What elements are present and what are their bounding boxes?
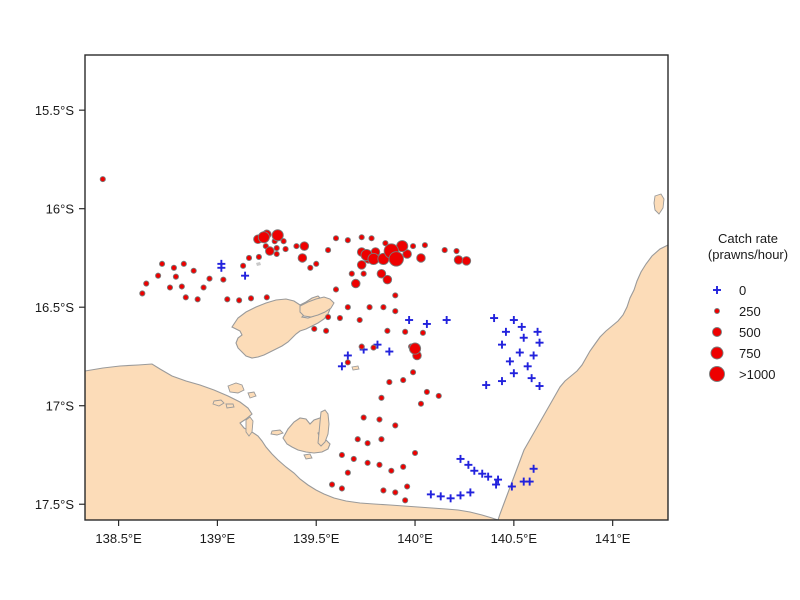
marker-catch-250 <box>351 456 356 461</box>
marker-catch-250 <box>355 437 360 442</box>
marker-catch-250 <box>248 296 253 301</box>
marker-catch-250 <box>359 344 364 349</box>
marker-catch-250 <box>201 285 206 290</box>
legend-label: 750 <box>739 346 761 361</box>
marker-catch-250 <box>393 423 398 428</box>
legend-symbol-750 <box>711 347 723 359</box>
marker-catch-250 <box>345 238 350 243</box>
marker-catch-250 <box>379 437 384 442</box>
marker-catch-250 <box>393 293 398 298</box>
legend-title-line2: (prawns/hour) <box>708 247 788 262</box>
marker-catch-250 <box>389 468 394 473</box>
marker-catch-250 <box>237 298 242 303</box>
x-tick-label: 138.5°E <box>95 531 142 546</box>
legend-label: 250 <box>739 304 761 319</box>
marker-catch-250 <box>381 305 386 310</box>
marker-catch-250 <box>100 177 105 182</box>
map-figure: 138.5°E139°E139.5°E140°E140.5°E141°E 15.… <box>0 0 800 600</box>
marker-catch-250 <box>144 281 149 286</box>
marker-catch-750 <box>409 343 420 354</box>
map-panel <box>85 55 668 520</box>
x-tick-label: 140.5°E <box>491 531 538 546</box>
marker-catch-250 <box>312 326 317 331</box>
marker-catch-250 <box>371 345 376 350</box>
marker-catch-250 <box>325 247 330 252</box>
marker-catch-250 <box>454 248 459 253</box>
marker-catch-250 <box>345 360 350 365</box>
marker-catch-250 <box>221 277 226 282</box>
marker-catch-250 <box>225 297 230 302</box>
marker-catch-250 <box>381 488 386 493</box>
y-tick-label: 16°S <box>46 202 75 217</box>
marker-catch-250 <box>207 276 212 281</box>
marker-catch-250 <box>308 265 313 270</box>
marker-catch-250 <box>377 462 382 467</box>
marker-catch-250 <box>337 315 342 320</box>
marker-catch-250 <box>333 236 338 241</box>
legend-label: 0 <box>739 283 746 298</box>
marker-catch-250 <box>359 235 364 240</box>
marker-catch-250 <box>367 305 372 310</box>
marker-catch-250 <box>345 470 350 475</box>
marker-catch-250 <box>333 287 338 292</box>
marker-catch-250 <box>412 450 417 455</box>
islet-tiny-south <box>304 454 312 459</box>
marker-catch-250 <box>393 309 398 314</box>
x-tick-label: 139°E <box>200 531 236 546</box>
marker-catch-500 <box>462 257 471 266</box>
marker-catch-250 <box>418 401 423 406</box>
marker-catch-250 <box>401 378 406 383</box>
marker-catch-750 <box>258 232 269 243</box>
marker-catch-500 <box>300 242 309 251</box>
marker-catch-500 <box>417 254 426 263</box>
marker-catch-250 <box>274 251 279 256</box>
y-tick-label: 17°S <box>46 399 75 414</box>
y-tick-label: 17.5°S <box>35 497 75 512</box>
marker-catch-250 <box>387 379 392 384</box>
marker-catch-250 <box>442 247 447 252</box>
figure-canvas: 138.5°E139°E139.5°E140°E140.5°E141°E 15.… <box>0 0 800 600</box>
marker-catch-250 <box>241 263 246 268</box>
marker-catch-250 <box>405 484 410 489</box>
marker-catch-250 <box>349 271 354 276</box>
marker-catch-250 <box>183 295 188 300</box>
marker-catch-250 <box>357 317 362 322</box>
marker-catch-250 <box>339 486 344 491</box>
legend-symbol-250 <box>715 309 720 314</box>
marker-catch-250 <box>191 268 196 273</box>
marker-catch-250 <box>401 464 406 469</box>
marker-catch-250 <box>159 261 164 266</box>
marker-catch-250 <box>422 243 427 248</box>
marker-catch-250 <box>167 285 172 290</box>
marker-catch-250 <box>365 441 370 446</box>
marker-catch-250 <box>403 329 408 334</box>
marker-catch-500 <box>351 279 360 288</box>
marker-catch-250 <box>393 490 398 495</box>
marker-catch-250 <box>365 460 370 465</box>
coastal-islet-b <box>226 404 234 408</box>
marker-catch-500 <box>454 256 463 265</box>
marker-catch-250 <box>424 389 429 394</box>
marker-catch-250 <box>156 273 161 278</box>
marker-catch-250 <box>140 291 145 296</box>
marker-catch-250 <box>173 274 178 279</box>
marker-catch-500 <box>298 254 307 263</box>
marker-catch-250 <box>325 314 330 319</box>
marker-catch-250 <box>377 417 382 422</box>
marker-catch-250 <box>410 370 415 375</box>
marker-catch-250 <box>385 328 390 333</box>
legend-title-line1: Catch rate <box>718 231 778 246</box>
marker-catch-250 <box>256 254 261 259</box>
legend-symbol-500 <box>713 328 722 337</box>
marker-catch-250 <box>339 452 344 457</box>
marker-catch-250 <box>369 236 374 241</box>
marker-catch-500 <box>265 247 274 256</box>
marker-catch-250 <box>329 482 334 487</box>
marker-catch-250 <box>361 415 366 420</box>
marker-catch-250 <box>283 246 288 251</box>
marker-catch-250 <box>379 395 384 400</box>
y-tick-label: 15.5°S <box>35 103 75 118</box>
marker-catch-250 <box>324 328 329 333</box>
legend-symbol-gt1000 <box>710 367 725 382</box>
marker-catch-250 <box>403 498 408 503</box>
legend-label: >1000 <box>739 367 776 382</box>
x-tick-label: 140°E <box>397 531 433 546</box>
marker-catch-250 <box>264 295 269 300</box>
marker-catch-500 <box>357 261 366 270</box>
marker-catch-750 <box>272 230 283 241</box>
marker-catch-250 <box>294 244 299 249</box>
offshore-speck <box>352 366 359 370</box>
marker-catch-250 <box>410 244 415 249</box>
marker-catch-1000 <box>389 252 403 266</box>
marker-catch-250 <box>179 284 184 289</box>
marker-catch-250 <box>345 305 350 310</box>
marker-catch-250 <box>420 330 425 335</box>
x-tick-label: 139.5°E <box>293 531 340 546</box>
marker-catch-250 <box>274 245 279 250</box>
marker-catch-250 <box>246 255 251 260</box>
marker-catch-500 <box>383 275 392 284</box>
x-tick-label: 141°E <box>595 531 631 546</box>
marker-catch-250 <box>181 261 186 266</box>
marker-catch-250 <box>171 265 176 270</box>
marker-catch-250 <box>361 271 366 276</box>
y-tick-label: 16.5°S <box>35 300 75 315</box>
marker-catch-250 <box>195 297 200 302</box>
marker-catch-250 <box>314 261 319 266</box>
legend-label: 500 <box>739 325 761 340</box>
marker-catch-250 <box>436 393 441 398</box>
